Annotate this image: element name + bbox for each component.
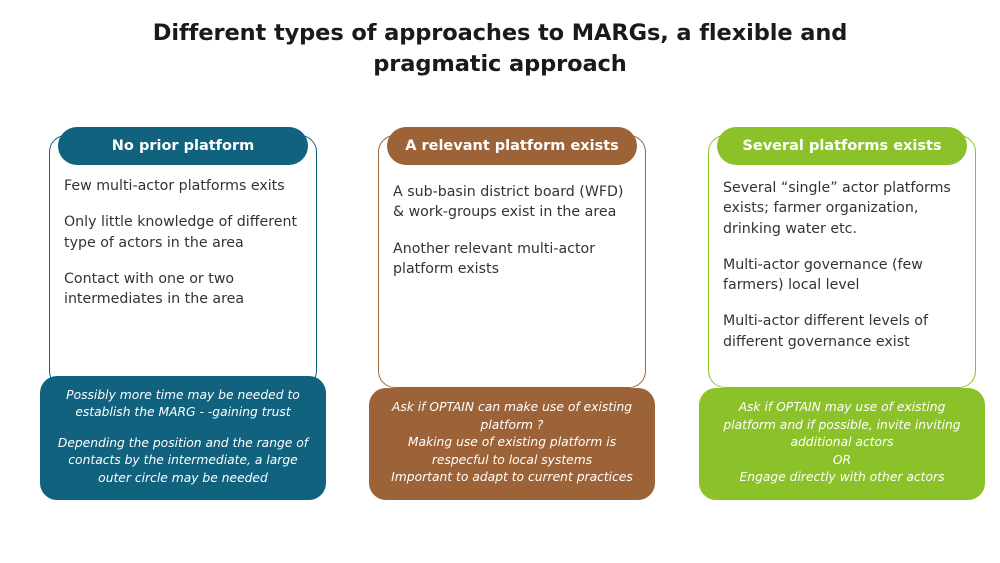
bullet-item: Few multi-actor platforms exits: [64, 176, 306, 196]
bullet-item: A sub-basin district board (WFD) & work-…: [393, 182, 635, 223]
footer-line: Possibly more time may be needed to esta…: [56, 387, 310, 422]
footer-line: Important to adapt to current practices: [385, 469, 639, 486]
bullet-item: Another relevant multi-actor platform ex…: [393, 239, 635, 280]
footer-line: Engage directly with other actors: [715, 469, 969, 486]
card-body-several-platforms-exists: Several “single” actor platforms exists;…: [723, 178, 965, 380]
footer-line: Ask if OPTAIN may use of existing platfo…: [715, 399, 969, 451]
bullet-item: Multi-actor different levels of differen…: [723, 311, 965, 352]
footer-line: OR: [715, 452, 969, 469]
approach-column-a-relevant-platform-exists: A relevant platform exists A sub-basin d…: [369, 118, 655, 500]
slide-canvas: Different types of approaches to MARGs, …: [0, 0, 1000, 563]
bullet-item: Several “single” actor platforms exists;…: [723, 178, 965, 239]
card-footer-no-prior-platform: Possibly more time may be needed to esta…: [40, 376, 326, 500]
approach-column-no-prior-platform: No prior platform Few multi-actor platfo…: [40, 118, 326, 500]
footer-line: Making use of existing platform is respe…: [385, 434, 639, 469]
card-body-a-relevant-platform-exists: A sub-basin district board (WFD) & work-…: [393, 182, 635, 380]
footer-line: Depending the position and the range of …: [56, 435, 310, 487]
footer-line: Ask if OPTAIN can make use of existing p…: [385, 399, 639, 434]
bullet-item: Contact with one or two intermediates in…: [64, 269, 306, 310]
bullet-item: Only little knowledge of different type …: [64, 212, 306, 253]
card-footer-a-relevant-platform-exists: Ask if OPTAIN can make use of existing p…: [369, 388, 655, 500]
bullet-item: Multi-actor governance (few farmers) loc…: [723, 255, 965, 296]
card-footer-several-platforms-exists: Ask if OPTAIN may use of existing platfo…: [699, 388, 985, 500]
page-title: Different types of approaches to MARGs, …: [150, 18, 850, 80]
approach-columns: No prior platform Few multi-actor platfo…: [0, 118, 1000, 508]
card-header-a-relevant-platform-exists: A relevant platform exists: [387, 127, 637, 165]
card-body-no-prior-platform: Few multi-actor platforms exits Only lit…: [64, 176, 306, 380]
approach-column-several-platforms-exists: Several platforms exists Several “single…: [699, 118, 985, 500]
card-header-several-platforms-exists: Several platforms exists: [717, 127, 967, 165]
card-header-no-prior-platform: No prior platform: [58, 127, 308, 165]
